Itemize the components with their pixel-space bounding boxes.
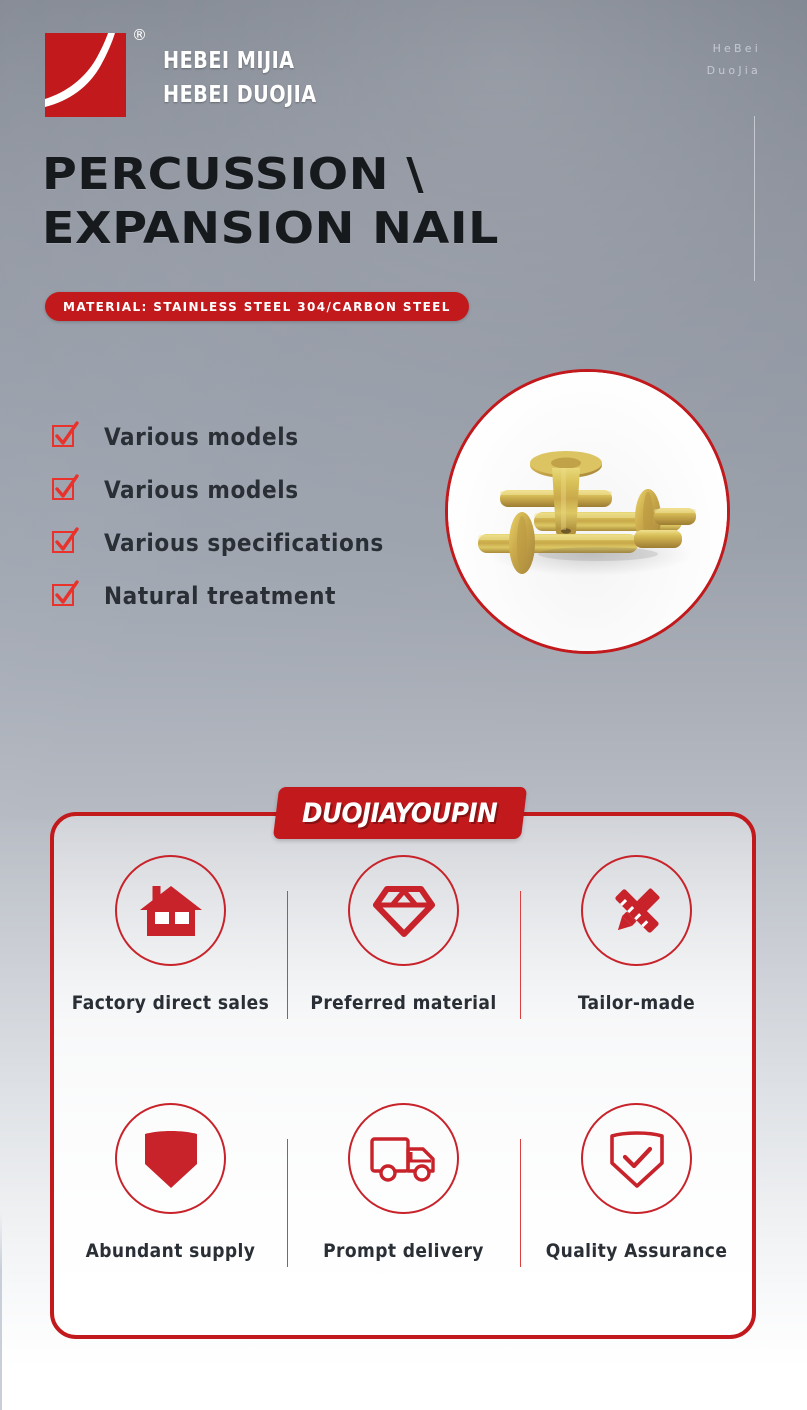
feature-cell-abundant-supply: Abundant supply [54, 1103, 287, 1303]
shield-check-icon [581, 1103, 692, 1214]
page-header: ® HEBEI MIJIA HEBEI DUOJIA HeBei DuoJia [0, 0, 807, 140]
column-divider [520, 891, 521, 1019]
delivery-truck-icon [348, 1103, 459, 1214]
features-row-bottom: Abundant supply Prompt delivery [54, 1103, 754, 1303]
feature-cell-label: Quality Assurance [546, 1240, 728, 1262]
feature-cell-label: Abundant supply [86, 1240, 256, 1262]
list-item: Various models [52, 463, 452, 516]
list-item-label: Various models [104, 476, 299, 504]
feature-cell-label: Prompt delivery [323, 1240, 484, 1262]
list-item: Various models [52, 410, 452, 463]
column-divider [287, 891, 288, 1019]
page-title: PERCUSSION \ EXPANSION NAIL [42, 148, 682, 256]
list-item: Various specifications [52, 516, 452, 569]
product-image-circle [445, 369, 730, 654]
features-grid: Factory direct sales Preferred material [54, 855, 754, 1325]
brand-line-2: HEBEI DUOJIA [163, 78, 317, 112]
feature-cell-label: Factory direct sales [72, 992, 269, 1014]
list-item: Natural treatment [52, 569, 452, 622]
registered-trademark-icon: ® [132, 28, 147, 43]
brand-swoosh-logo-icon [45, 33, 126, 117]
factory-house-icon [115, 855, 226, 966]
diamond-gem-icon [348, 855, 459, 966]
card-banner: DUOJIAYOUPIN [273, 787, 527, 839]
column-divider [287, 1139, 288, 1267]
checkbox-check-icon [52, 478, 76, 502]
product-photo [448, 372, 727, 651]
checkbox-check-icon [52, 425, 76, 449]
column-divider [520, 1139, 521, 1267]
feature-list: Various models Various models Various sp… [52, 410, 452, 622]
feature-cell-preferred-material: Preferred material [287, 855, 520, 1055]
checkbox-check-icon [52, 584, 76, 608]
title-line-1: PERCUSSION \ [42, 148, 807, 202]
card-banner-label: DUOJIAYOUPIN [302, 798, 497, 829]
product-marketing-page: ® HEBEI MIJIA HEBEI DUOJIA HeBei DuoJia … [0, 0, 807, 1410]
brand-logo: ® [45, 33, 135, 117]
page-left-edge [0, 0, 2, 1410]
list-item-label: Various specifications [104, 529, 384, 557]
corner-line-1: HeBei [707, 38, 761, 60]
corner-brand-text: HeBei DuoJia [707, 38, 761, 82]
feature-cell-prompt-delivery: Prompt delivery [287, 1103, 520, 1303]
checkbox-check-icon [52, 531, 76, 555]
feature-cell-label: Preferred material [310, 992, 496, 1014]
brand-line-1: HEBEI MIJIA [163, 44, 317, 78]
feature-cell-quality-assurance: Quality Assurance [520, 1103, 753, 1303]
material-badge-label: MATERIAL: STAINLESS STEEL 304/CARBON STE… [63, 300, 451, 314]
shield-solid-icon [115, 1103, 226, 1214]
pencil-ruler-icon [581, 855, 692, 966]
feature-cell-label: Tailor-made [578, 992, 695, 1014]
features-row-top: Factory direct sales Preferred material [54, 855, 754, 1055]
brand-name: HEBEI MIJIA HEBEI DUOJIA [163, 44, 328, 112]
corner-line-2: DuoJia [707, 60, 761, 82]
material-badge: MATERIAL: STAINLESS STEEL 304/CARBON STE… [45, 292, 469, 321]
title-line-2: EXPANSION NAIL [42, 202, 807, 256]
list-item-label: Various models [104, 423, 299, 451]
list-item-label: Natural treatment [104, 582, 336, 610]
feature-cell-tailor-made: Tailor-made [520, 855, 753, 1055]
feature-cell-factory-direct-sales: Factory direct sales [54, 855, 287, 1055]
